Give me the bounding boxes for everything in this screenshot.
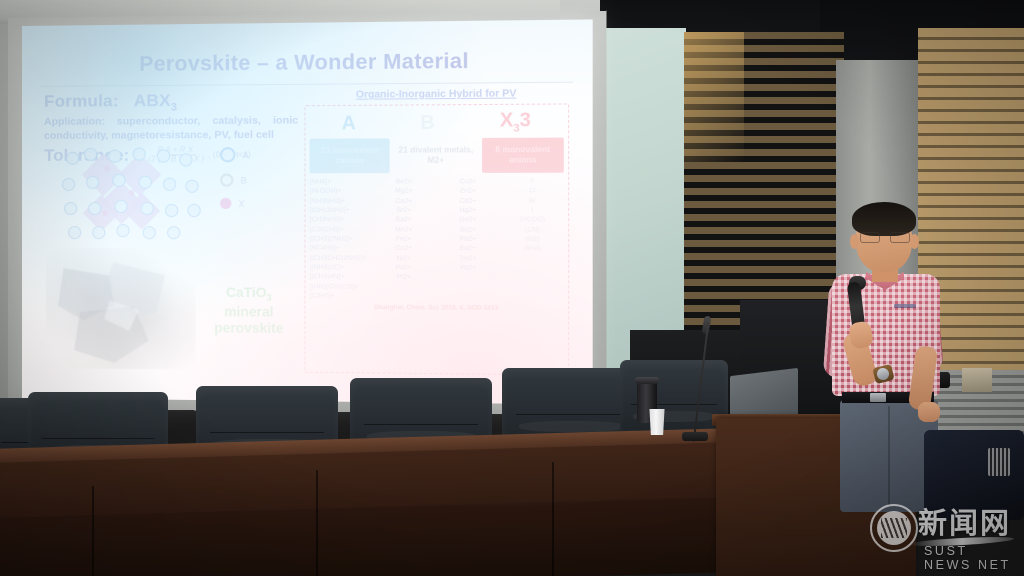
ion-entry: [(CH3)2NH2]+ <box>310 234 371 244</box>
ion-entry: Br <box>501 196 564 206</box>
ion-entry: [(CH3CH2)2NH2]+ <box>310 253 371 263</box>
legend-row-a: A <box>220 147 292 162</box>
header-b: B <box>420 112 434 135</box>
mineral-formula-sub: 3 <box>267 293 272 303</box>
chip-x-anions: 8 monovalent anions <box>482 137 564 172</box>
hybrid-table-box: A B X33 23 monovalent cations 21 divalen… <box>304 103 569 375</box>
ion-entry: (CN) <box>501 225 564 235</box>
ion-entry: [NC4H8]+ <box>310 244 371 254</box>
speaker-ear-right <box>910 234 919 249</box>
chip-a-cations: 23 monovalent cations <box>310 138 390 173</box>
ion-table: [NH4]+[NH3OH]+[NH3NH2]+[(OH)2NH2]+[CH3NH… <box>310 177 564 303</box>
legend-b-label: B <box>241 175 247 185</box>
legend-row-b: B <box>220 173 292 186</box>
ion-entry: Eu2+ <box>437 244 499 254</box>
slat-wall-light-glow <box>684 32 744 162</box>
presentation-slide: Perovskite – a Wonder Material Formula: … <box>22 19 593 404</box>
speaker-hair <box>852 202 916 236</box>
watermark-chinese-text: 新闻网 <box>918 500 1011 542</box>
table-panel-seam <box>552 462 554 576</box>
ion-entry: Ge2+ <box>437 215 499 225</box>
formula-value: ABX <box>134 91 171 110</box>
paper-cup <box>648 409 666 435</box>
ion-entry: F <box>501 177 564 187</box>
ion-entry: [(CH3)4N]+ <box>310 272 371 282</box>
perovskite-lattice-diagram <box>58 143 210 240</box>
ion-entry: [NH3OH]+ <box>310 187 371 197</box>
ion-column-b1: Be2+Mg2+Ca2+Sr2+Ba2+Mn2+Fe2+Co2+Ni2+Pd2+… <box>373 177 435 302</box>
ion-entry: [(OH)2NH2]+ <box>310 206 371 216</box>
legend-x-icon <box>220 198 231 209</box>
legend-b-icon <box>220 174 233 187</box>
trouser-seam <box>888 406 890 506</box>
projection-screen: Perovskite – a Wonder Material Formula: … <box>22 19 593 404</box>
slide-citation: Shanghai, Chem. Sci. 2015, 6, 3430-3433 <box>310 304 564 313</box>
ion-entry: I <box>501 206 564 216</box>
ion-entry: [NH3NH2]+ <box>310 196 371 206</box>
ion-column-x: FClBrI(HCOO)(CN)(N3)(BH4) <box>501 177 564 303</box>
ion-entry: Pt2+ <box>373 273 435 283</box>
mineral-formula: CaTiO <box>226 285 267 300</box>
ion-entry: Cd2+ <box>437 196 499 206</box>
ion-entry: [(NH3)2C]+ <box>310 263 371 273</box>
ion-entry: [NH4]+ <box>310 177 371 187</box>
small-cardboard-box <box>962 368 992 392</box>
shirt-pocket-pen <box>894 304 916 308</box>
chip-row: 23 monovalent cations 21 divalent metals… <box>310 137 564 173</box>
ion-entry: Zn2+ <box>437 186 499 196</box>
formula-row: Formula: ABX3 <box>44 90 298 114</box>
legend-a-label: A <box>243 150 249 160</box>
travel-mug-lid <box>635 377 659 384</box>
ion-column-b2: Cu2+Zn2+Cd2+Hg2+Ge2+Sn2+Pb2+Eu2+Tm2+Yb2+ <box>437 177 499 302</box>
ion-column-a: [NH4]+[NH3OH]+[NH3NH2]+[(OH)2NH2]+[CH3NH… <box>310 177 371 301</box>
ion-entry: Mn2+ <box>373 225 435 235</box>
ion-entry: Cu2+ <box>437 177 499 187</box>
ion-entry: Sr2+ <box>373 206 435 216</box>
hybrid-heading: Organic-Inorganic Hybrid for PV <box>304 88 569 101</box>
ion-entry: Tm2+ <box>437 254 499 264</box>
header-a: A <box>342 113 356 136</box>
ion-entry: Sn2+ <box>437 225 499 235</box>
ion-entry: [CH3NH3]+ <box>310 215 371 225</box>
lecture-hall-photo: Perovskite – a Wonder Material Formula: … <box>0 0 1024 576</box>
ion-entry: Fe2+ <box>373 234 435 244</box>
ion-entry: [(HN)(CH3)2S]+ <box>310 282 371 292</box>
title-divider <box>40 82 573 87</box>
ion-entry: [C2N2H5]+ <box>310 225 371 235</box>
ion-entry: Ca2+ <box>373 196 435 206</box>
gooseneck-mic-base <box>682 432 708 441</box>
ion-entry: Mg2+ <box>373 187 435 197</box>
ion-entry: Ni2+ <box>373 254 435 264</box>
ion-entry: (BH4) <box>501 244 564 254</box>
legend-row-x: X <box>220 198 292 209</box>
abx-header-row: A B X33 <box>310 110 564 136</box>
ion-entry: Co2+ <box>373 244 435 254</box>
legend-x-label: X <box>239 198 245 208</box>
legend-a-icon <box>220 147 235 162</box>
lattice-legend: A B X <box>220 147 292 220</box>
mineral-word-mineral: mineral <box>224 304 273 320</box>
ion-entry: (HCOO) <box>501 215 564 225</box>
table-panel-seam <box>92 486 94 576</box>
formula-subscript: 3 <box>171 101 177 113</box>
mineral-caption: CaTiO3 mineral perovskite <box>200 285 299 338</box>
formula-label: Formula: <box>44 91 119 111</box>
watermark-english-text: SUST NEWS NET <box>924 544 1016 572</box>
ion-entry: Yb2+ <box>437 263 499 273</box>
application-text: Application: superconductor, catalysis, … <box>44 115 298 143</box>
chip-b-metals: 21 divalent metals, M2+ <box>395 138 476 173</box>
speaker-right-hand <box>918 402 940 422</box>
perovskite-mineral-photo <box>46 248 196 370</box>
eyeglasses-icon <box>860 232 908 241</box>
table-panel-seam <box>316 470 318 576</box>
ion-entry: Hg2+ <box>437 206 499 216</box>
slide-title: Perovskite – a Wonder Material <box>22 48 593 78</box>
ion-entry: Pb2+ <box>437 235 499 245</box>
slide-right-column: Organic-Inorganic Hybrid for PV A B X33 … <box>304 88 569 375</box>
ion-entry: Be2+ <box>373 177 435 187</box>
watermark: 新闻网 SUST NEWS NET <box>866 498 1016 564</box>
bag-label-tag <box>988 448 1010 476</box>
header-x: X33 <box>500 110 531 135</box>
mineral-word-perovskite: perovskite <box>214 320 283 336</box>
ion-entry: Ba2+ <box>373 215 435 225</box>
ion-entry: (N3) <box>501 235 564 245</box>
belt-buckle <box>870 393 886 402</box>
ion-entry: Cl <box>501 186 564 196</box>
ion-entry: [C3H5]+ <box>310 292 371 302</box>
ion-entry: Pd2+ <box>373 263 435 273</box>
speaker-ear-left <box>850 234 859 249</box>
